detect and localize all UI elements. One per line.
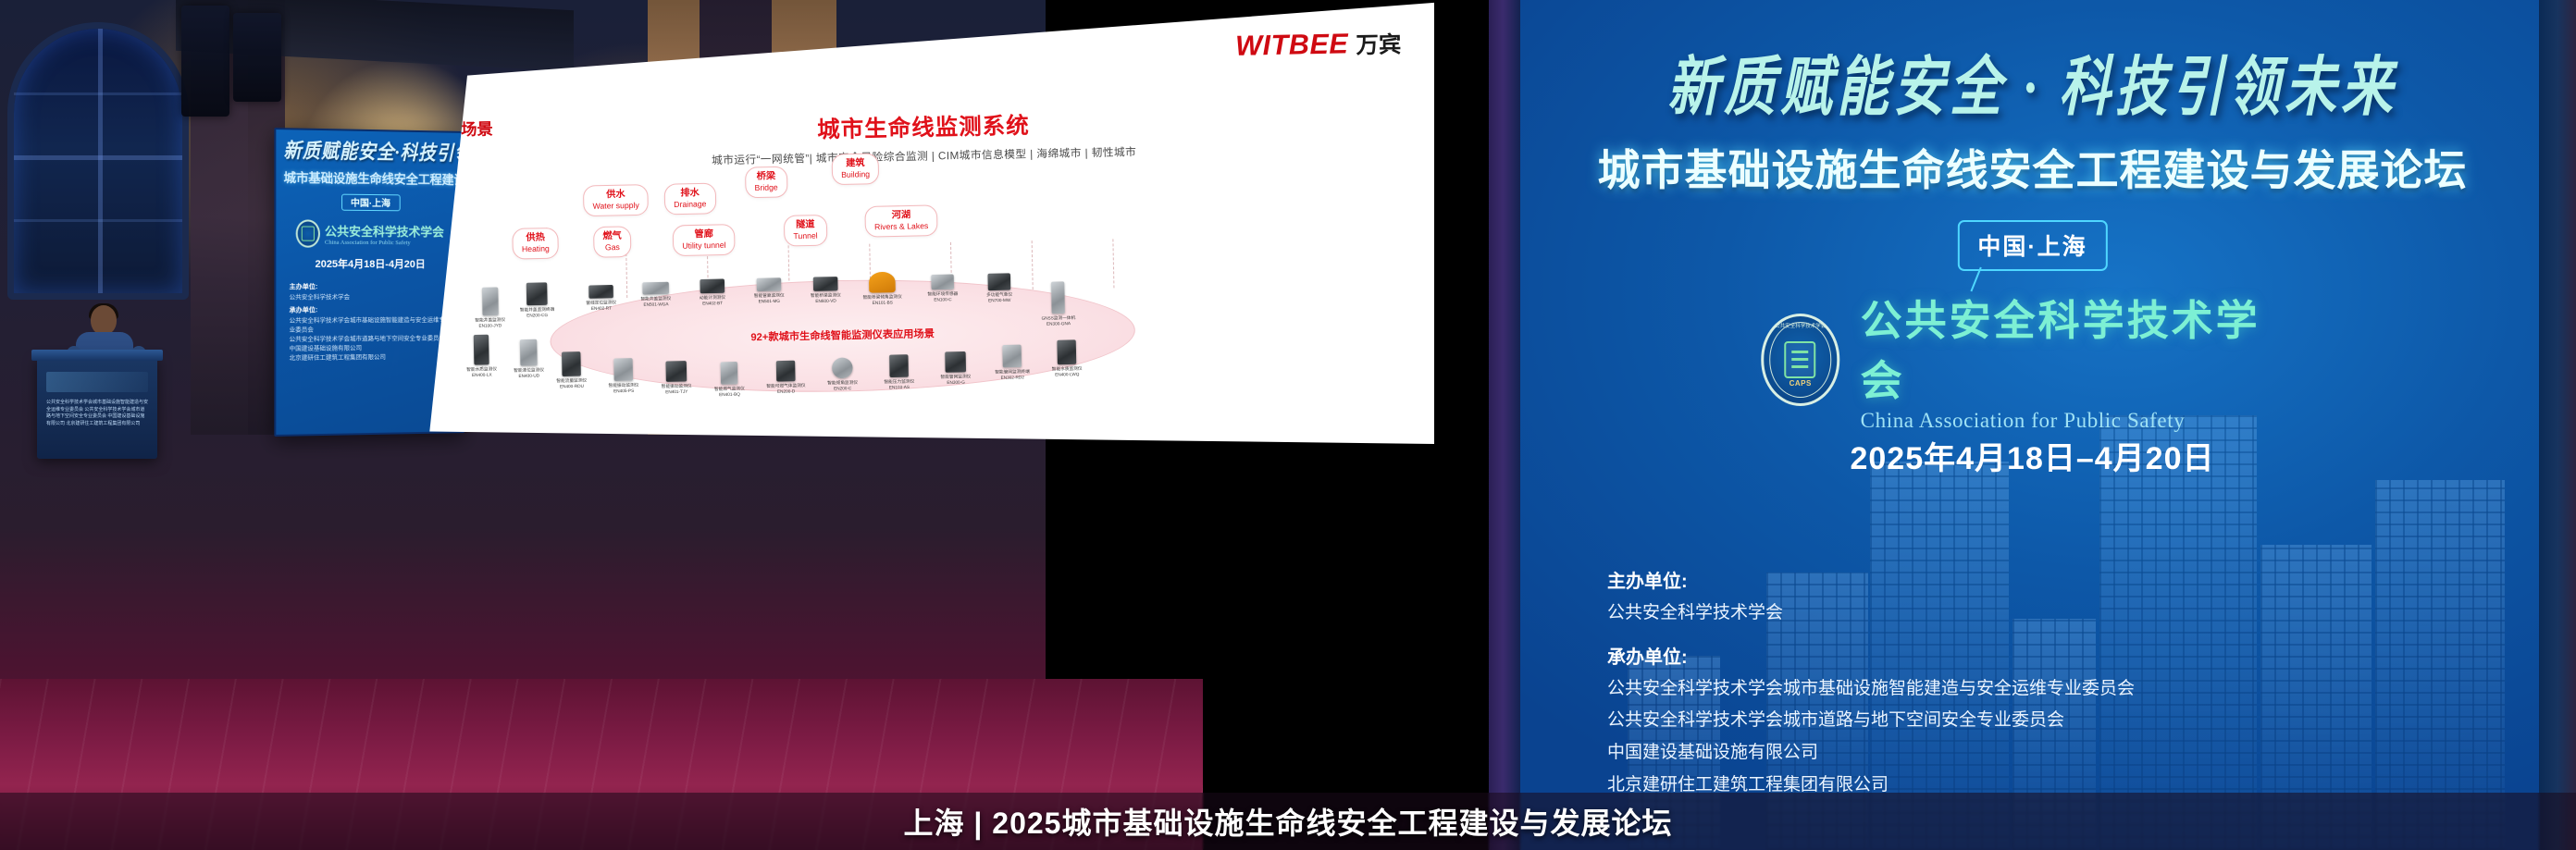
device-icon xyxy=(520,339,538,366)
device-label: 管线定位监测仪 EN402-RT xyxy=(576,300,626,313)
device-icon xyxy=(526,282,548,305)
caps-seal-icon: 公共安全科学技术学会 CAPS xyxy=(1761,314,1840,406)
banner-location-chip: 中国·上海 xyxy=(1957,220,2107,271)
scenario-bubble-en: Gas xyxy=(603,242,623,253)
device-item: 智能水质监测仪 EN400-LWQ xyxy=(1041,339,1093,378)
speaker-box xyxy=(181,6,229,117)
device-icon xyxy=(642,282,669,295)
mini-banner-organizers: 主办单位: 公共安全科学技术学会 承办单位: 公共安全科学技术学会城市基础设施智… xyxy=(283,283,455,363)
seal-caps-text: CAPS xyxy=(1764,379,1838,388)
device-icon xyxy=(700,278,724,293)
device-icon xyxy=(665,361,687,382)
device-icon xyxy=(776,361,796,382)
device-icon xyxy=(813,277,838,291)
device-label: 智能流量监测仪 EN400-RDU xyxy=(546,377,597,390)
device-item: 智能桥梁监测仪 EN600-VD xyxy=(799,277,851,305)
device-label: 智能桥梁倾角监测仪 EN101-BS xyxy=(857,294,908,307)
device-icon xyxy=(588,285,613,299)
connector-line xyxy=(1112,239,1114,288)
scenario-bubble: 管廊 Utility tunnel xyxy=(673,224,736,256)
device-label: 智能井盖监测仪 EN501-WGA xyxy=(630,296,681,309)
device-item: 智能燃气监测仪 EN401-BQ xyxy=(703,362,755,399)
presentation-photo: 公共安全科学技术学会城市基础设施智能建造与安全运维专业委员会 公共安全科学技术学… xyxy=(0,0,2576,850)
device-label: 智能压力监测仪 EN103-AS xyxy=(873,378,924,391)
device-label: 智能井盖监测终端 EN200-CG xyxy=(512,307,563,320)
mini-banner-host-head: 主办单位: xyxy=(290,283,451,293)
main-backdrop-banner: 新质赋能安全 · 科技引领未来 城市基础设施生命线安全工程建设与发展论坛 中国·… xyxy=(1489,0,2576,850)
seal-core xyxy=(1785,341,1816,378)
device-item: 智能流量监测仪 EN400-RDU xyxy=(546,351,598,390)
device-item: 智能环境传感器 EN100-C xyxy=(917,274,969,303)
device-item: 多功能气象仪 EN700-MW xyxy=(973,273,1025,304)
device-label: 智能水质监测仪 EN400-LX xyxy=(456,366,507,379)
caps-seal-icon xyxy=(296,219,320,247)
device-item: 智能管网监测仪 EN300-G xyxy=(930,351,982,387)
device-icon xyxy=(562,351,581,376)
witbee-logo-cn: 万宾 xyxy=(1356,26,1402,60)
scenario-bubble-cn: 排水 xyxy=(674,188,706,200)
mini-banner-assoc-cn: 公共安全科学技术学会 xyxy=(325,222,444,240)
device-label: 智能燃气监测仪 EN401-BQ xyxy=(704,386,755,399)
mini-banner-host-line: 公共安全科学技术学会 xyxy=(290,294,350,301)
speaker-box xyxy=(233,13,281,102)
device-icon xyxy=(987,273,1010,290)
presenter-head xyxy=(91,305,117,335)
podium-text: 公共安全科学技术学会城市基础设施智能建造与安全运维专业委员会 公共安全科学技术学… xyxy=(46,400,148,427)
mini-banner-organizer-head: 承办单位: xyxy=(290,306,451,316)
device-item: 智能压力监测仪 EN103-AS xyxy=(873,354,925,391)
device-item: 管线定位监测仪 EN402-RT xyxy=(576,285,627,313)
scenario-bubble-cn: 供水 xyxy=(592,189,639,201)
host-line: 公共安全科学技术学会 xyxy=(1607,601,2135,625)
scenario-bubble-en: Tunnel xyxy=(793,231,817,241)
device-label: 智能管网监测终端 EN302-RD2 xyxy=(986,369,1037,382)
mini-banner-assoc-en: China Association for Public Safety xyxy=(325,240,444,247)
device-item: 动能计测测仪 EN402-BT xyxy=(687,278,738,307)
device-icon xyxy=(832,357,853,378)
scenario-bubble-cn: 河湖 xyxy=(874,210,929,223)
witbee-logo-en: WITBEE xyxy=(1235,29,1349,63)
device-icon xyxy=(1002,345,1022,368)
seal-arc-text: 公共安全科学技术学会 xyxy=(1764,322,1838,329)
device-label: 智能振动监测仪 EN401-TJY xyxy=(651,383,702,396)
mini-banner-date: 2025年4月18日-4月20日 xyxy=(283,256,455,271)
device-icon xyxy=(757,277,782,291)
banner-calligraphy: 新质赋能安全 · 科技引领未来 xyxy=(1554,35,2511,129)
device-item: GNSS监测一体机 EN300-GNA xyxy=(1033,281,1084,327)
banner-forum-title: 城市基础设施生命线安全工程建设与发展论坛 xyxy=(1531,137,2533,198)
device-item: 智能倾角监测仪 EN200-C xyxy=(817,357,869,392)
device-icon xyxy=(481,287,498,315)
scenario-bubble-en: Rivers & Lakes xyxy=(874,221,929,232)
scenario-bubble-cn: 建筑 xyxy=(841,158,870,170)
device-label: 智能环境传感器 EN100-C xyxy=(917,291,968,304)
scenario-bubble-cn: 隧道 xyxy=(793,219,817,231)
scenario-bubble-en: Bridge xyxy=(755,182,778,192)
scenario-bubble-en: Utility tunnel xyxy=(682,240,725,252)
device-icon xyxy=(721,362,738,385)
device-label: 多功能气象仪 EN700-MW xyxy=(974,291,1025,304)
arched-window xyxy=(7,22,189,300)
device-label: 智能振动监测仪 EN405-PS xyxy=(598,382,649,395)
device-item: 智能振动监测仪 EN401-TJY xyxy=(650,361,702,396)
scenario-bubble-en: Drainage xyxy=(674,199,706,209)
scenario-bubble: 隧道 Tunnel xyxy=(784,215,827,246)
device-label: 智能井盖监测仪 EN100-JYD xyxy=(464,317,515,330)
bottom-caption-bar: 上海 | 2025城市基础设施生命线安全工程建设与发展论坛 xyxy=(0,793,2576,850)
bottom-caption-text: 上海 | 2025城市基础设施生命线安全工程建设与发展论坛 xyxy=(904,800,1673,843)
device-label: GNSS监测一体机 EN300-GNA xyxy=(1033,315,1084,328)
scenario-bubble: 供热 Heating xyxy=(512,228,559,259)
device-item: 智能管网监测终端 EN302-RD2 xyxy=(986,344,1038,381)
device-label: 智能倾角监测仪 EN200-C xyxy=(817,380,868,393)
scenario-bubble-en: Building xyxy=(841,169,870,179)
mini-banner-association: 公共安全科学技术学会 China Association for Public … xyxy=(283,219,455,248)
device-icon xyxy=(474,335,489,365)
scenario-bubble: 供水 Water supply xyxy=(583,184,649,216)
device-icon xyxy=(1057,339,1076,364)
device-icon xyxy=(869,272,896,293)
mini-banner-organizer-lines: 公共安全科学技术学会城市基础设施智能建造与安全运维专业委员会 公共安全科学技术学… xyxy=(290,316,445,361)
organizer-heading: 承办单位: xyxy=(1607,642,2135,669)
device-label: 智能管网监测仪 EN300-G xyxy=(930,374,981,387)
banner-date: 2025年4月18日–4月20日 xyxy=(1489,433,2576,478)
banner-assoc-cn: 公共安全科学技术学会 xyxy=(1861,287,2305,407)
device-label: 智能水质监测仪 EN400-LWQ xyxy=(1042,366,1093,379)
device-label: 智能桥梁监测仪 EN600-VD xyxy=(800,292,851,305)
scenario-bubble: 建筑 Building xyxy=(832,154,880,185)
scenario-bubble-cn: 桥梁 xyxy=(754,171,777,183)
scenario-bubble-en: Water supply xyxy=(592,201,638,212)
scenario-bubble-cn: 供热 xyxy=(522,232,550,244)
podium-logo xyxy=(46,372,148,392)
device-item: 智能振动监测仪 EN405-PS xyxy=(598,358,650,395)
scenario-bubble: 河湖 Rivers & Lakes xyxy=(864,204,937,237)
device-icon xyxy=(889,354,909,377)
scenario-bubble-cn: 燃气 xyxy=(602,231,622,243)
device-label: 动能计测测仪 EN402-BT xyxy=(687,295,737,308)
host-heading: 主办单位: xyxy=(1607,566,2135,593)
device-icon xyxy=(1051,281,1065,314)
scenario-bubble: 燃气 Gas xyxy=(593,226,631,257)
device-item: 智能井盖监测终端 EN200-CG xyxy=(511,282,563,319)
scenario-bubble-cn: 管廊 xyxy=(682,228,725,240)
mini-banner-calligraphy: 新质赋能安全·科技引领未来 xyxy=(283,142,455,166)
witbee-logo: WITBEE 万宾 xyxy=(1235,26,1402,63)
scenario-bubble-en: Heating xyxy=(522,244,550,254)
device-icon xyxy=(931,275,954,290)
scenario-bubble: 桥梁 Bridge xyxy=(745,166,787,198)
device-label: 智能可燃气体监测仪 EN200-D xyxy=(761,383,811,396)
device-item: 智能水质监测仪 EN400-LX xyxy=(455,334,507,378)
device-item: 智能井盖监测仪 EN100-JYD xyxy=(464,287,516,329)
podium-top xyxy=(31,350,163,361)
podium: 公共安全科学技术学会城市基础设施智能建造与安全运维专业委员会 公共安全科学技术学… xyxy=(37,357,157,459)
banner-organizers: 主办单位: 公共安全科学技术学会 承办单位: 公共安全科学技术学会城市基础设施智… xyxy=(1607,566,2135,796)
device-item: 智能可燃气体监测仪 EN200-D xyxy=(760,360,811,395)
scenario-bubble: 排水 Drainage xyxy=(664,183,716,215)
mini-banner-location-chip: 中国·上海 xyxy=(341,194,401,212)
device-item: 智能桥梁倾角监测仪 EN101-BS xyxy=(857,271,909,306)
device-label: 智能管廊监测仪 EN501-MG xyxy=(744,292,795,305)
banner-assoc-en: China Association for Public Safety xyxy=(1861,409,2305,433)
organizer-line: 中国建设基础设施有限公司 xyxy=(1607,741,2135,765)
banner-association: 公共安全科学技术学会 CAPS 公共安全科学技术学会 China Associa… xyxy=(1761,287,2305,433)
mini-banner-forum-title: 城市基础设施生命线安全工程建设与发展论坛 xyxy=(283,167,455,188)
device-icon xyxy=(945,351,966,373)
organizer-line: 公共安全科学技术学会城市基础设施智能建造与安全运维专业委员会 xyxy=(1607,677,2135,701)
device-item: 智能管廊监测仪 EN501-MG xyxy=(743,277,795,305)
device-icon xyxy=(613,358,633,381)
device-item: 智能井盖监测仪 EN501-WGA xyxy=(630,281,682,308)
organizer-line: 公共安全科学技术学会城市道路与地下空间安全专业委员会 xyxy=(1607,708,2135,733)
